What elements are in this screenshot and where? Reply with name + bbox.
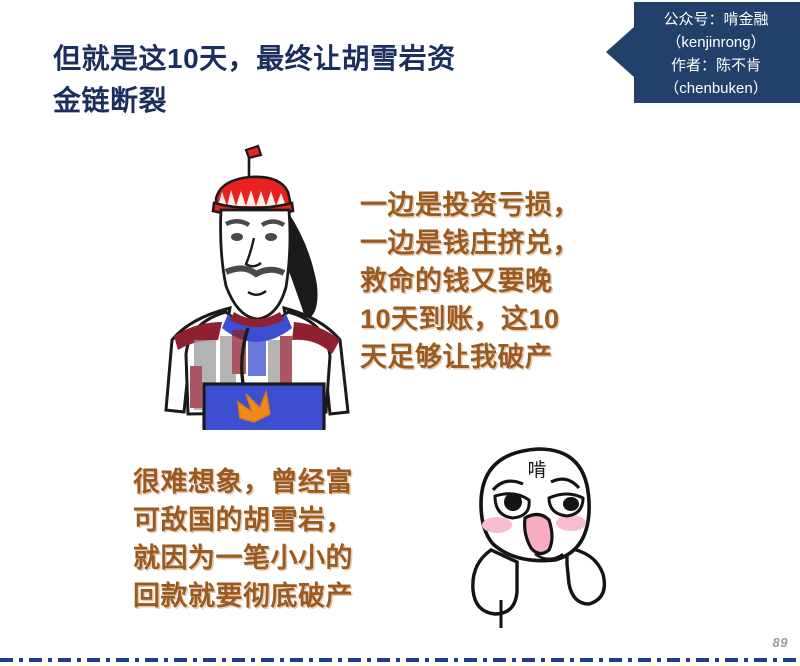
hat-finial-jewel-icon	[246, 146, 261, 158]
meme-right-arm	[567, 548, 604, 604]
meme-right-blush	[556, 515, 586, 531]
right-eye-icon	[265, 233, 277, 241]
meme-forehead-character: 啃	[527, 459, 546, 481]
badge-line-account-id: （kenjinrong）	[640, 31, 792, 54]
quote-bottom-text: 很难想象，曾经富 可敌国的胡雪岩， 就因为一笔小小的 回款就要彻底破产	[133, 463, 433, 615]
qing-dynasty-official-illustration	[160, 140, 360, 430]
author-badge: 公众号：啃金融 （kenjinrong） 作者：陈不肯 （chenbuken）	[606, 2, 800, 103]
meme-left-pupil-icon	[504, 493, 522, 511]
badge-line-account-name: 公众号：啃金融	[640, 8, 792, 31]
tongue-out-cartoon-face-illustration: 啃	[455, 432, 630, 637]
badge-line-author-id: （chenbuken）	[640, 77, 792, 100]
badge-line-author-name: 作者：陈不肯	[640, 54, 792, 77]
page-title: 但就是这10天，最终让胡雪岩资 金链断裂	[53, 38, 593, 122]
footer-divider	[0, 658, 800, 662]
slide-canvas: 但就是这10天，最终让胡雪岩资 金链断裂 公众号：啃金融 （kenjinrong…	[0, 0, 800, 666]
page-number: 89	[773, 635, 788, 650]
official-face	[221, 210, 290, 319]
meme-left-arm	[473, 550, 517, 614]
meme-right-pupil-icon	[563, 497, 579, 511]
quote-right-text: 一边是投资亏损， 一边是钱庄挤兑， 救命的钱又要晚 10天到账，这10 天足够让…	[360, 186, 660, 376]
meme-left-blush	[482, 517, 512, 533]
left-eye-icon	[231, 233, 243, 241]
